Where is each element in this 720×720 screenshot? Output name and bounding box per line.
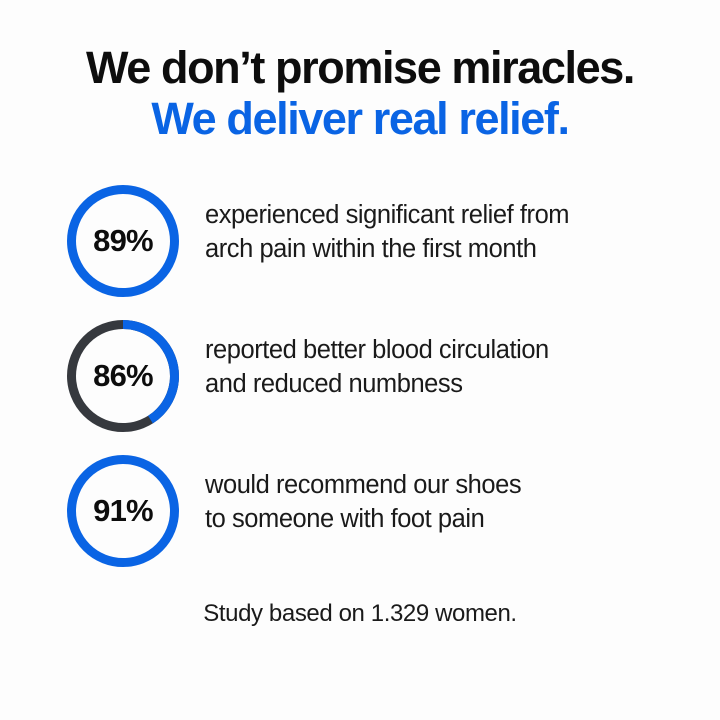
stat-row: 91% would recommend our shoes to someone… — [0, 455, 720, 590]
headline: We don’t promise miracles. We deliver re… — [0, 44, 720, 143]
stat-row: 89% experienced significant relief from … — [0, 185, 720, 320]
stat-description-line2: arch pain within the first month — [205, 233, 569, 267]
stats-infographic: We don’t promise miracles. We deliver re… — [0, 0, 720, 720]
progress-ring-89: 89% — [67, 185, 179, 297]
stat-value: 86% — [67, 320, 179, 432]
stat-description-line2: to someone with foot pain — [205, 503, 521, 537]
progress-ring-91: 91% — [67, 455, 179, 567]
stat-description-line2: and reduced numbness — [205, 368, 549, 402]
stat-description-line1: experienced significant relief from — [205, 199, 569, 233]
study-footnote: Study based on 1.329 women. — [0, 600, 720, 628]
stat-value: 91% — [67, 455, 179, 567]
stat-description: experienced significant relief from arch… — [205, 199, 569, 266]
progress-ring-86: 86% — [67, 320, 179, 432]
headline-line-secondary: We deliver real relief. — [0, 95, 720, 144]
stat-value: 89% — [67, 185, 179, 297]
stat-description: would recommend our shoes to someone wit… — [205, 469, 521, 536]
stat-description: reported better blood circulation and re… — [205, 334, 549, 401]
stats-list: 89% experienced significant relief from … — [0, 185, 720, 590]
headline-line-primary: We don’t promise miracles. — [0, 44, 720, 93]
stat-row: 86% reported better blood circulation an… — [0, 320, 720, 455]
stat-description-line1: reported better blood circulation — [205, 334, 549, 368]
stat-description-line1: would recommend our shoes — [205, 469, 521, 503]
